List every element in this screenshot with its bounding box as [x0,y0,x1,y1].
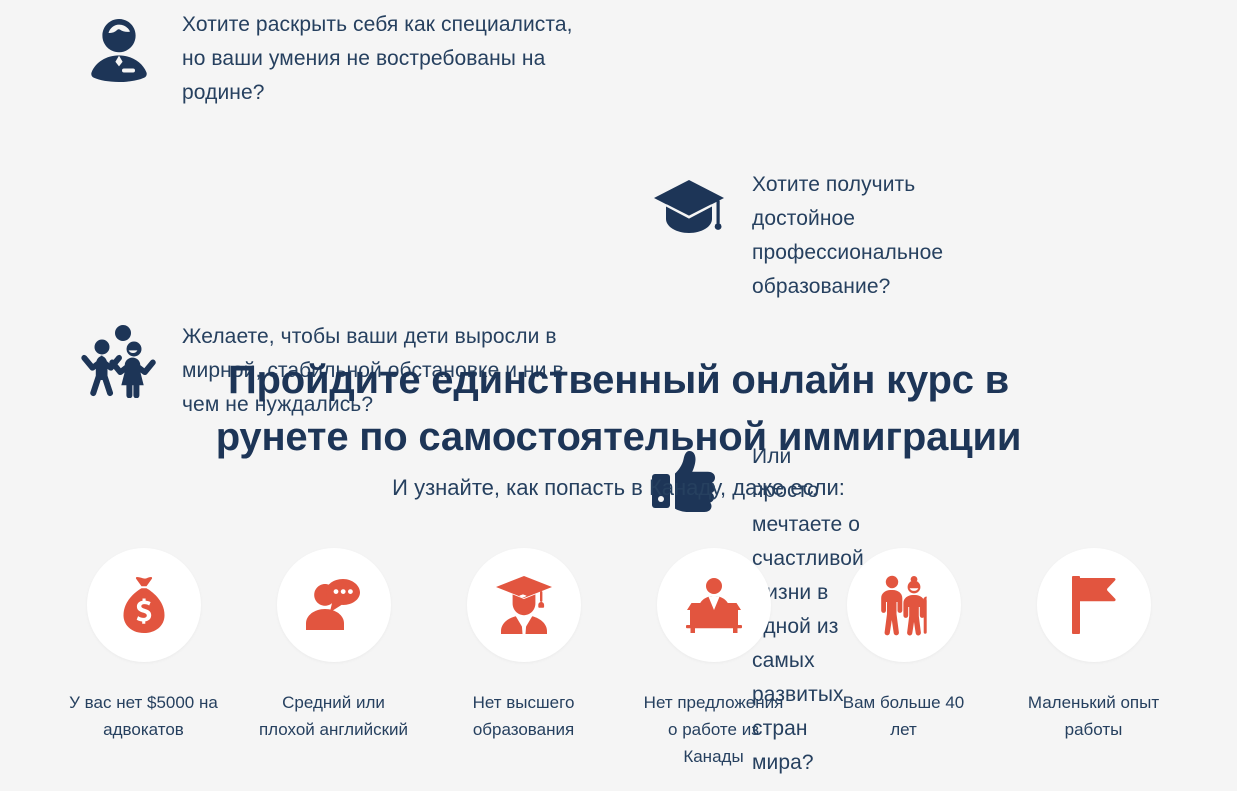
question-text: Хотите получить достойное профессиональн… [752,168,943,304]
question-item-2: Хотите получить достойное профессиональн… [0,160,688,320]
feature-label: Нет высшего образования [448,689,600,743]
features-row: У вас нет $5000 на адвокатов Средний или… [0,548,1237,770]
speaking-person-icon [277,548,391,662]
person-icon [78,8,160,90]
office-desk-icon [657,548,771,662]
feature-item: Нет предложения о работе из Канады [619,548,809,770]
feature-item: Нет высшего образования [429,548,619,743]
feature-label: У вас нет $5000 на адвокатов [68,689,220,743]
question-text: Хотите раскрыть себя как специалиста, но… [182,8,579,110]
feature-item: Маленький опыт работы [999,548,1189,743]
feature-item: Средний или плохой английский [239,548,429,743]
page-title: Пройдите единственный онлайн курс в руне… [0,352,1237,466]
graduate-icon [467,548,581,662]
page-subtitle: И узнайте, как попасть в Канаду, даже ес… [0,473,1237,503]
money-bag-icon [87,548,201,662]
feature-label: Вам больше 40 лет [828,689,980,743]
feature-item: У вас нет $5000 на адвокатов [49,548,239,743]
elderly-couple-icon [847,548,961,662]
feature-label: Нет предложения о работе из Канады [638,689,790,770]
question-item-1: Хотите раскрыть себя как специалиста, но… [0,0,619,160]
feature-item: Вам больше 40 лет [809,548,999,743]
feature-label: Маленький опыт работы [1018,689,1170,743]
page-title-line-2: рунете по самостоятельной иммиграции [0,409,1237,466]
feature-label: Средний или плохой английский [258,689,410,743]
flag-icon [1037,548,1151,662]
page-title-line-1: Пройдите единственный онлайн курс в [0,352,1237,409]
graduation-cap-icon [648,168,730,250]
